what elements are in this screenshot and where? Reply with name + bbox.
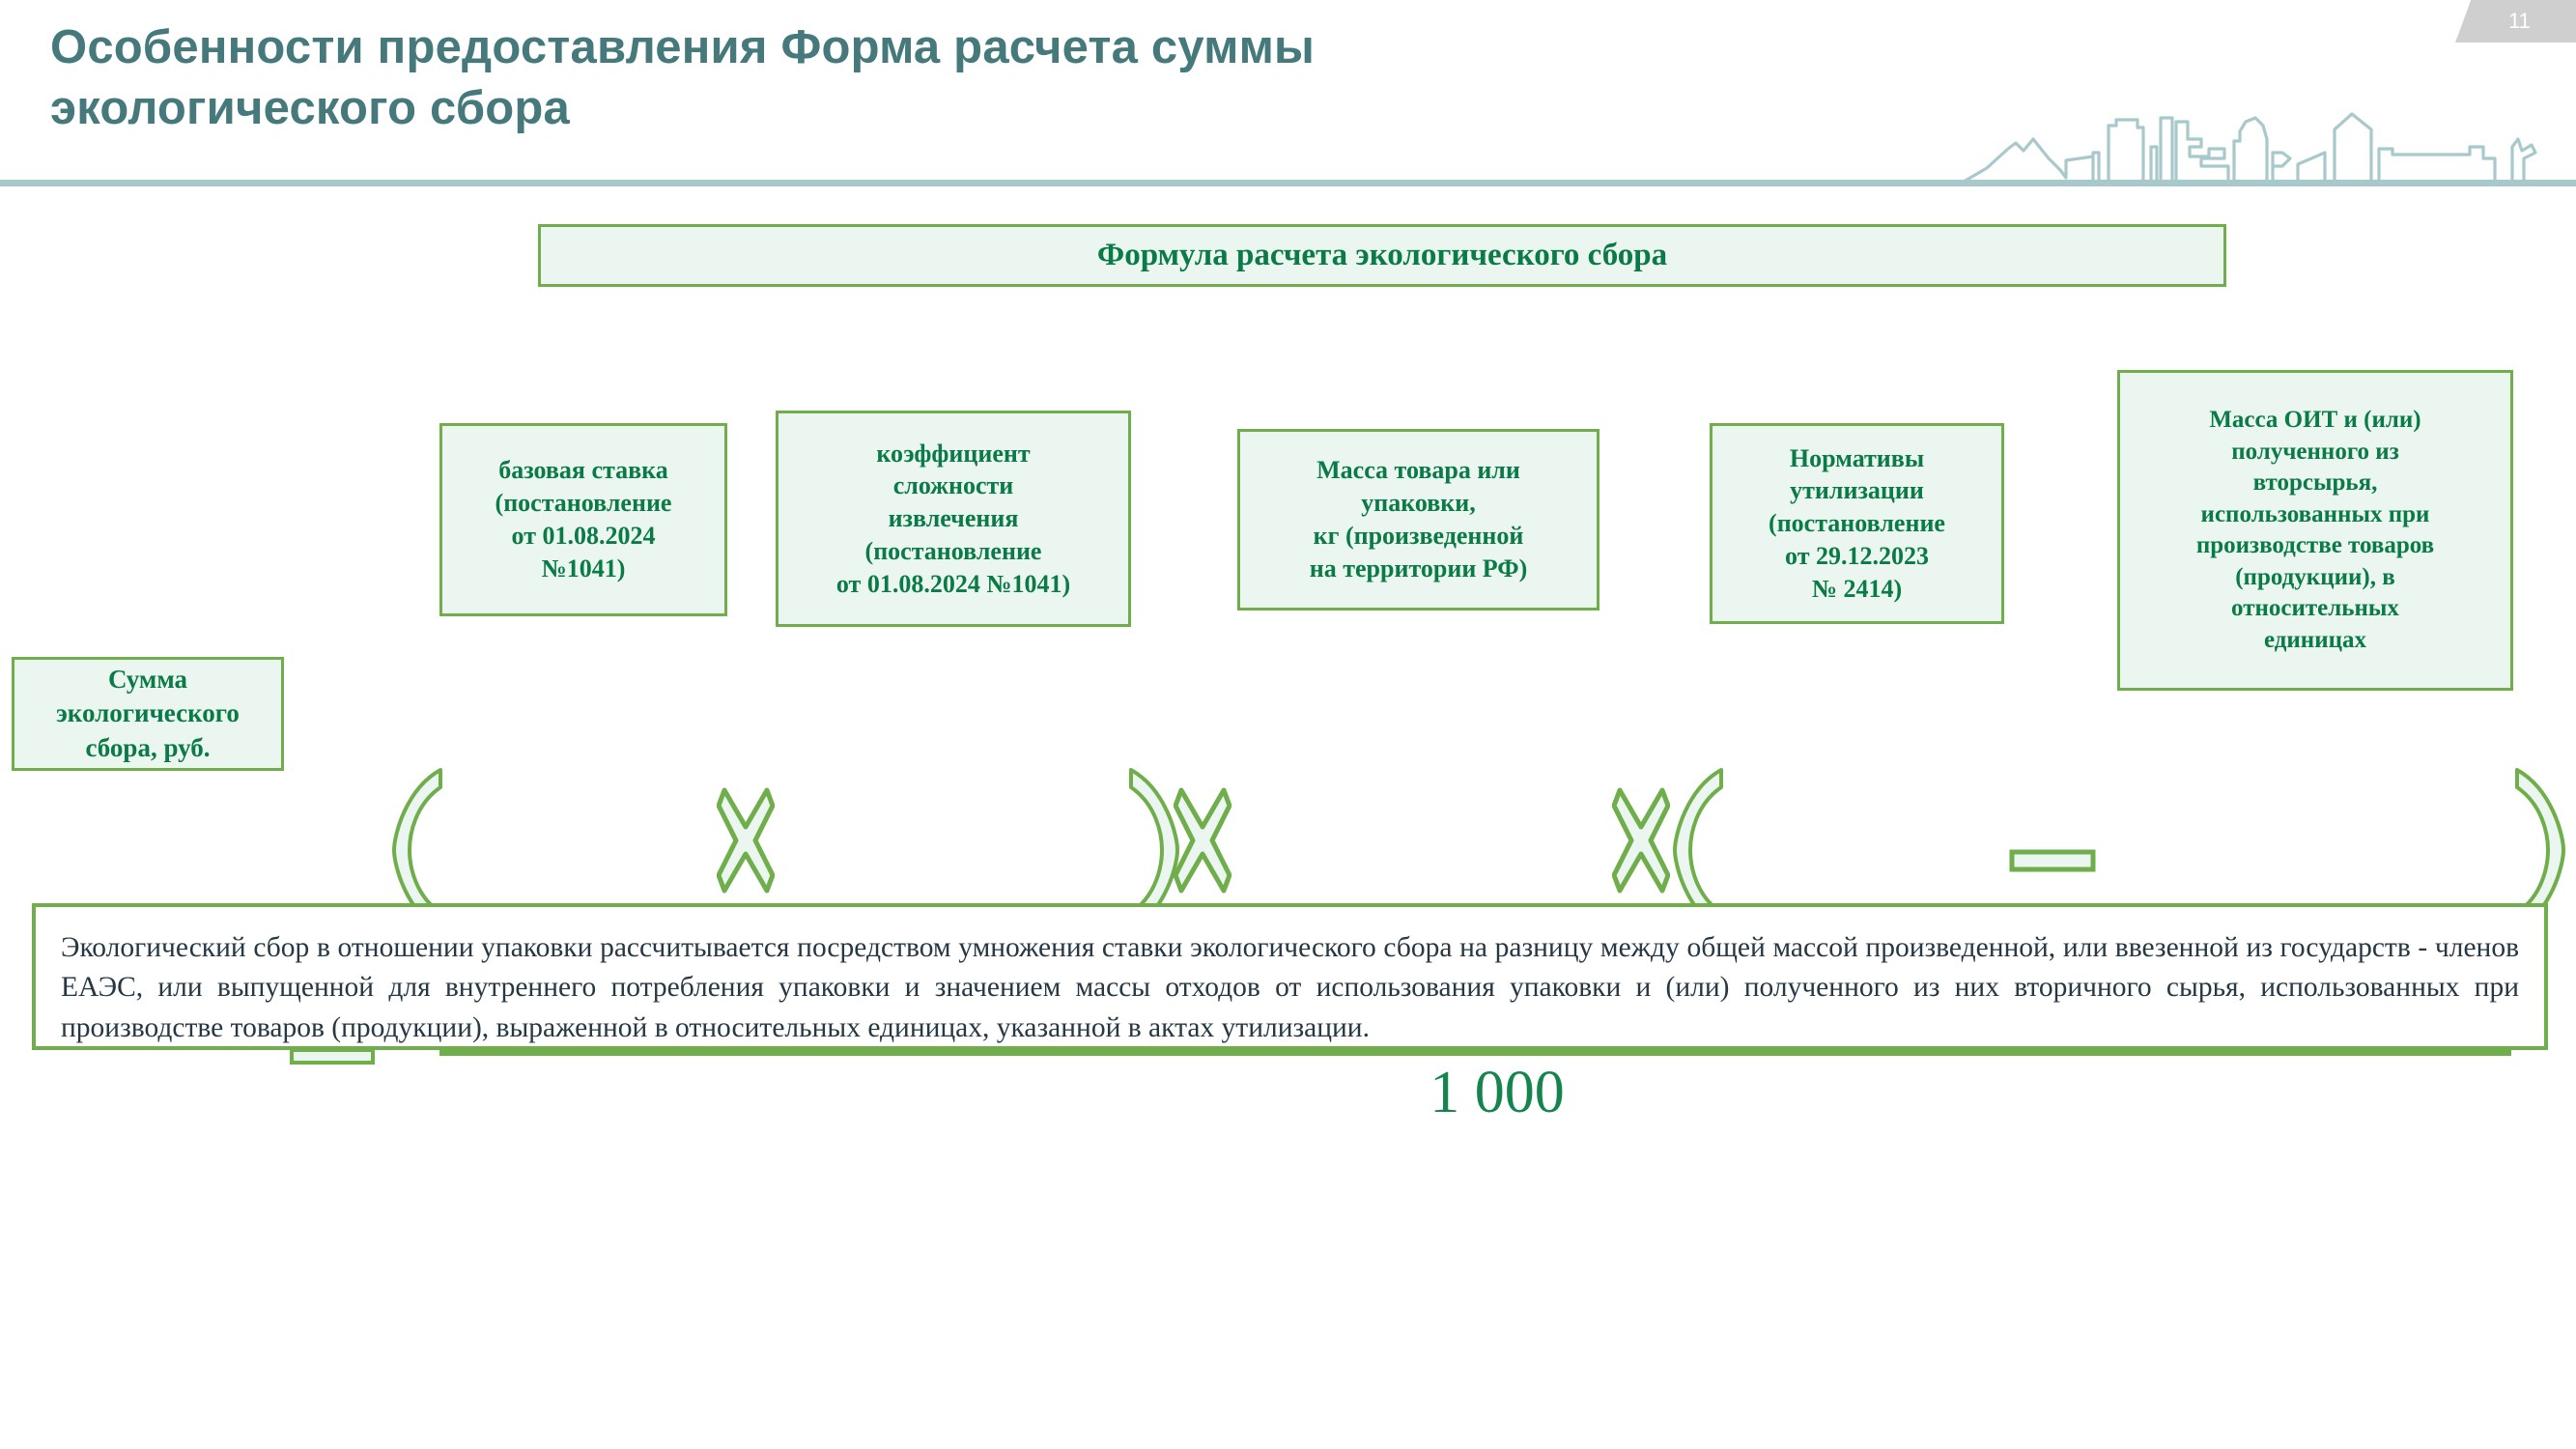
explanatory-note-text: Экологический сбор в отношении упаковки … bbox=[61, 928, 2519, 1048]
slide-header: Особенности предоставления Форма расчета… bbox=[0, 0, 2576, 185]
formula-term-recycling-norms: Нормативы утилизации (постановление от 2… bbox=[1710, 423, 2004, 624]
multiply-icon bbox=[1174, 784, 1231, 896]
minus-icon bbox=[2009, 847, 2096, 874]
multiply-icon bbox=[717, 784, 775, 896]
page-number-badge: 11 bbox=[2455, 0, 2576, 43]
city-skyline-icon bbox=[1919, 89, 2576, 184]
formula-term-oit-mass: Масса ОИТ и (или) полученного из вторсыр… bbox=[2117, 370, 2513, 691]
explanatory-note-box: Экологический сбор в отношении упаковки … bbox=[32, 903, 2548, 1050]
formula-term-base-rate: базовая ставка (постановление от 01.08.2… bbox=[439, 423, 727, 616]
multiply-icon bbox=[1612, 784, 1670, 896]
formula-term-extraction-coefficient: коэффициент сложности извлечения (постан… bbox=[776, 411, 1131, 627]
formula-denominator: 1 000 bbox=[1188, 1059, 1806, 1127]
equals-bar-bottom bbox=[290, 1048, 375, 1065]
formula-result-box: Сумма экологического сбора, руб. bbox=[12, 657, 284, 771]
formula-term-goods-mass: Масса товара или упаковки, кг (произведе… bbox=[1237, 429, 1599, 611]
formula-diagram: базовая ставка (постановление от 01.08.2… bbox=[0, 338, 2576, 840]
page-title: Особенности предоставления Форма расчета… bbox=[50, 17, 1692, 138]
formula-banner: Формула расчета экологического сбора bbox=[538, 224, 2226, 287]
header-divider bbox=[0, 180, 2576, 186]
